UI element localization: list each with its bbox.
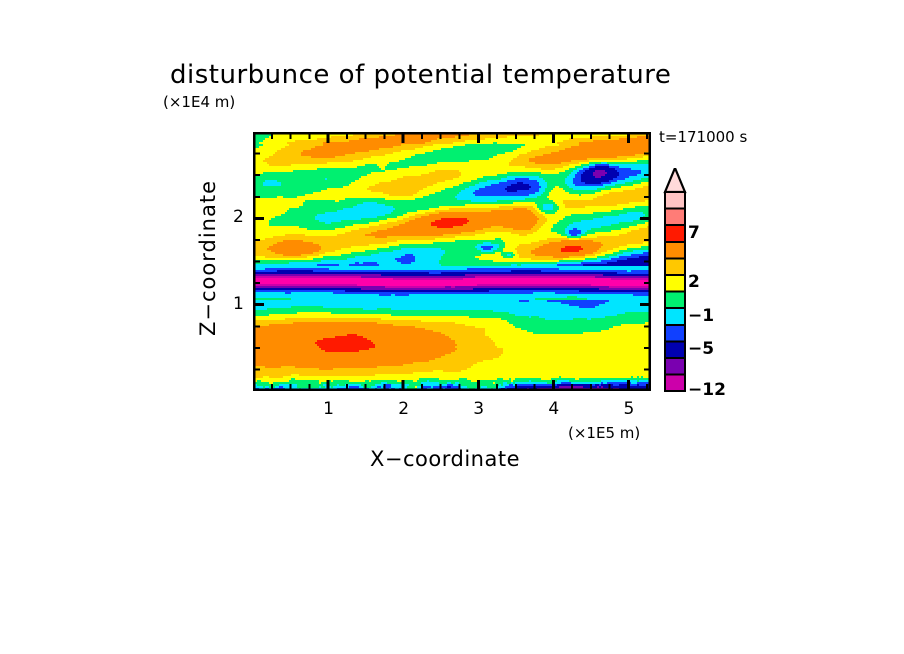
x-tick-label: 5	[623, 399, 634, 419]
figure-canvas: disturbunce of potential temperature (×1…	[0, 0, 904, 654]
colorbar-tick-label: 7	[688, 223, 700, 243]
x-tick-label: 4	[548, 399, 559, 419]
x-tick-label: 1	[323, 399, 334, 419]
colorbar-tick-label: 2	[688, 272, 700, 292]
contour-plot	[253, 132, 651, 391]
x-tick-label: 2	[398, 399, 409, 419]
y-axis-title-text: Z−coordinate	[196, 180, 220, 336]
y-tick-label: 1	[233, 294, 244, 314]
y-axis-unit-label: (×1E4 m)	[163, 93, 235, 111]
x-tick-label: 3	[473, 399, 484, 419]
x-axis-title: X−coordinate	[370, 447, 520, 471]
page-title: disturbunce of potential temperature	[170, 60, 671, 90]
colorbar-tick-label: −12	[688, 380, 726, 400]
colorbar-tick-label: −5	[688, 339, 714, 359]
y-axis-title: Z−coordinate	[196, 180, 220, 360]
timestamp-annotation: t=171000 s	[659, 128, 747, 146]
y-tick-label: 2	[233, 207, 244, 227]
colorbar-tick-label: −1	[688, 306, 714, 326]
x-axis-unit-label: (×1E5 m)	[568, 424, 640, 442]
colorbar	[662, 168, 688, 394]
